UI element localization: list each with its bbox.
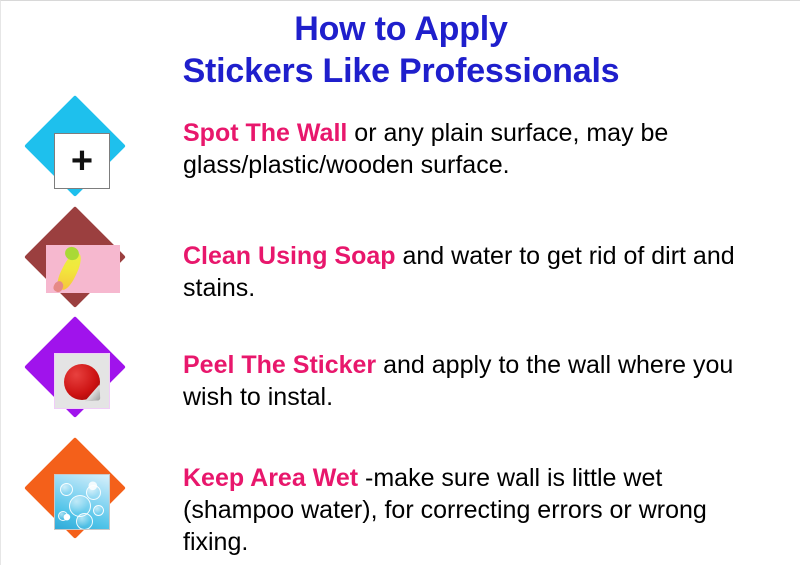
title-line-2: Stickers Like Professionals <box>1 51 800 93</box>
plus-sign-icon: + <box>54 133 110 189</box>
step-text-cell: Keep Area Wet -make sure wall is little … <box>183 440 800 558</box>
step-lead: Keep Area Wet <box>183 464 358 492</box>
step-icon-cell <box>1 440 183 560</box>
peeling-sticker-icon <box>54 353 110 409</box>
step-paragraph: Peel The Sticker and apply to the wall w… <box>183 349 751 413</box>
bubble-icon <box>93 505 104 516</box>
title-line-1: How to Apply <box>1 9 800 51</box>
step-item: + Spot The Wall or any plain surface, ma… <box>1 104 800 216</box>
sponge-background <box>46 245 120 293</box>
bubble-icon <box>60 483 73 496</box>
plus-glyph: + <box>71 142 93 180</box>
step-text-cell: Spot The Wall or any plain surface, may … <box>183 104 800 181</box>
bubbles-background <box>55 475 109 529</box>
infographic-poster: How to Apply Stickers Like Professionals… <box>0 0 800 565</box>
bubble-icon <box>76 513 93 529</box>
step-paragraph: Keep Area Wet -make sure wall is little … <box>183 462 751 558</box>
page-title: How to Apply Stickers Like Professionals <box>1 9 800 93</box>
step-lead: Clean Using Soap <box>183 242 396 270</box>
step-text-cell: Peel The Sticker and apply to the wall w… <box>183 327 800 413</box>
bubble-icon <box>86 485 101 500</box>
step-item: Keep Area Wet -make sure wall is little … <box>1 440 800 560</box>
step-lead: Peel The Sticker <box>183 351 376 379</box>
step-icon-cell <box>1 216 183 327</box>
step-text-cell: Clean Using Soap and water to get rid of… <box>183 216 800 304</box>
water-bubbles-icon <box>54 474 110 530</box>
step-icon-cell: + <box>1 104 183 216</box>
step-icon-cell <box>1 327 183 440</box>
step-item: Clean Using Soap and water to get rid of… <box>1 216 800 327</box>
bubble-icon <box>58 511 68 521</box>
step-lead: Spot The Wall <box>183 119 347 147</box>
step-item: Peel The Sticker and apply to the wall w… <box>1 327 800 440</box>
step-paragraph: Spot The Wall or any plain surface, may … <box>183 117 751 181</box>
step-paragraph: Clean Using Soap and water to get rid of… <box>183 240 751 304</box>
steps-list: + Spot The Wall or any plain surface, ma… <box>1 104 800 560</box>
sponge-icon <box>46 245 120 293</box>
